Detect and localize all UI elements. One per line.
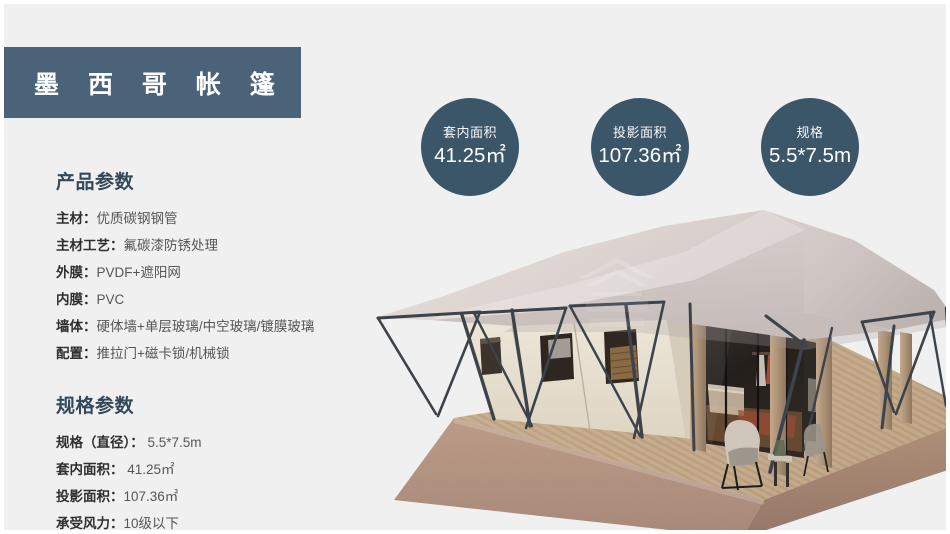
- tent-render-image: [334, 200, 950, 534]
- spec-row: 规格（直径）： 5.5*7.5m: [56, 429, 366, 456]
- spec-label: 主材：: [56, 211, 97, 226]
- product-parameters-group: 产品参数 主材：优质碳钢钢管 主材工艺：氟碳漆防锈处理 外膜：PVDF+遮阳网 …: [56, 167, 366, 367]
- specification-parameters-list: 规格（直径）： 5.5*7.5m 套内面积： 41.25㎡ 投影面积：107.3…: [56, 429, 366, 534]
- stat-label: 套内面积: [443, 126, 497, 140]
- spec-row: 外膜：PVDF+遮阳网: [56, 259, 366, 286]
- stat-label: 投影面积: [613, 126, 667, 140]
- spec-value: 107.36㎡: [124, 489, 179, 504]
- spec-value: 优质碳钢钢管: [97, 211, 178, 226]
- spec-value: 氟碳漆防锈处理: [124, 238, 219, 253]
- spec-label: 投影面积：: [56, 489, 124, 504]
- spec-value: PVDF+遮阳网: [97, 265, 181, 280]
- spec-label: 外膜：: [56, 265, 97, 280]
- stat-circle-interior-area: 套内面积 41.25㎡: [421, 98, 519, 196]
- spec-label: 配置：: [56, 346, 97, 361]
- spec-value: 10级以下: [124, 516, 180, 531]
- product-parameters-list: 主材：优质碳钢钢管 主材工艺：氟碳漆防锈处理 外膜：PVDF+遮阳网 内膜：PV…: [56, 205, 366, 367]
- spec-value: 5.5*7.5m: [144, 435, 202, 450]
- stat-label: 规格: [796, 126, 823, 140]
- specification-panel: 产品参数 主材：优质碳钢钢管 主材工艺：氟碳漆防锈处理 外膜：PVDF+遮阳网 …: [56, 167, 366, 534]
- spec-row: 主材：优质碳钢钢管: [56, 205, 366, 232]
- spec-row: 承受风力：10级以下: [56, 510, 366, 534]
- spec-row: 套内面积： 41.25㎡: [56, 456, 366, 483]
- spec-value: 41.25㎡: [124, 462, 175, 477]
- spec-value: 推拉门+磁卡锁/机械锁: [97, 346, 230, 361]
- spec-label: 规格（直径）：: [56, 435, 144, 450]
- spec-row: 主材工艺：氟碳漆防锈处理: [56, 232, 366, 259]
- specification-parameters-group: 规格参数 规格（直径）： 5.5*7.5m 套内面积： 41.25㎡ 投影面积：…: [56, 391, 366, 534]
- spec-label: 内膜：: [56, 292, 97, 307]
- spec-row: 投影面积：107.36㎡: [56, 483, 366, 510]
- title-banner: 墨 西 哥 帐 篷: [4, 47, 301, 118]
- stat-circle-projected-area: 投影面积 107.36㎡: [591, 98, 689, 196]
- spec-value: PVC: [97, 292, 125, 307]
- spec-label: 套内面积：: [56, 462, 124, 477]
- stat-value: 5.5*7.5m: [769, 144, 851, 168]
- spec-label: 墙体：: [56, 319, 97, 334]
- spec-row: 配置：推拉门+磁卡锁/机械锁: [56, 340, 366, 367]
- spec-value: 硬体墙+单层玻璃/中空玻璃/镀膜玻璃: [97, 319, 315, 334]
- page-title: 墨 西 哥 帐 篷: [4, 65, 286, 101]
- stat-value: 107.36㎡: [598, 144, 681, 168]
- slide-root: 墨 西 哥 帐 篷 套内面积 41.25㎡ 投影面积 107.36㎡ 规格 5.…: [0, 0, 950, 534]
- spec-label: 主材工艺：: [56, 238, 124, 253]
- specification-parameters-heading: 规格参数: [56, 391, 366, 418]
- product-parameters-heading: 产品参数: [56, 167, 366, 194]
- stat-circle-dimensions: 规格 5.5*7.5m: [761, 98, 859, 196]
- spec-row: 内膜：PVC: [56, 286, 366, 313]
- spec-label: 承受风力：: [56, 516, 124, 531]
- spec-row: 墙体：硬体墙+单层玻璃/中空玻璃/镀膜玻璃: [56, 313, 366, 340]
- stat-value: 41.25㎡: [434, 144, 506, 168]
